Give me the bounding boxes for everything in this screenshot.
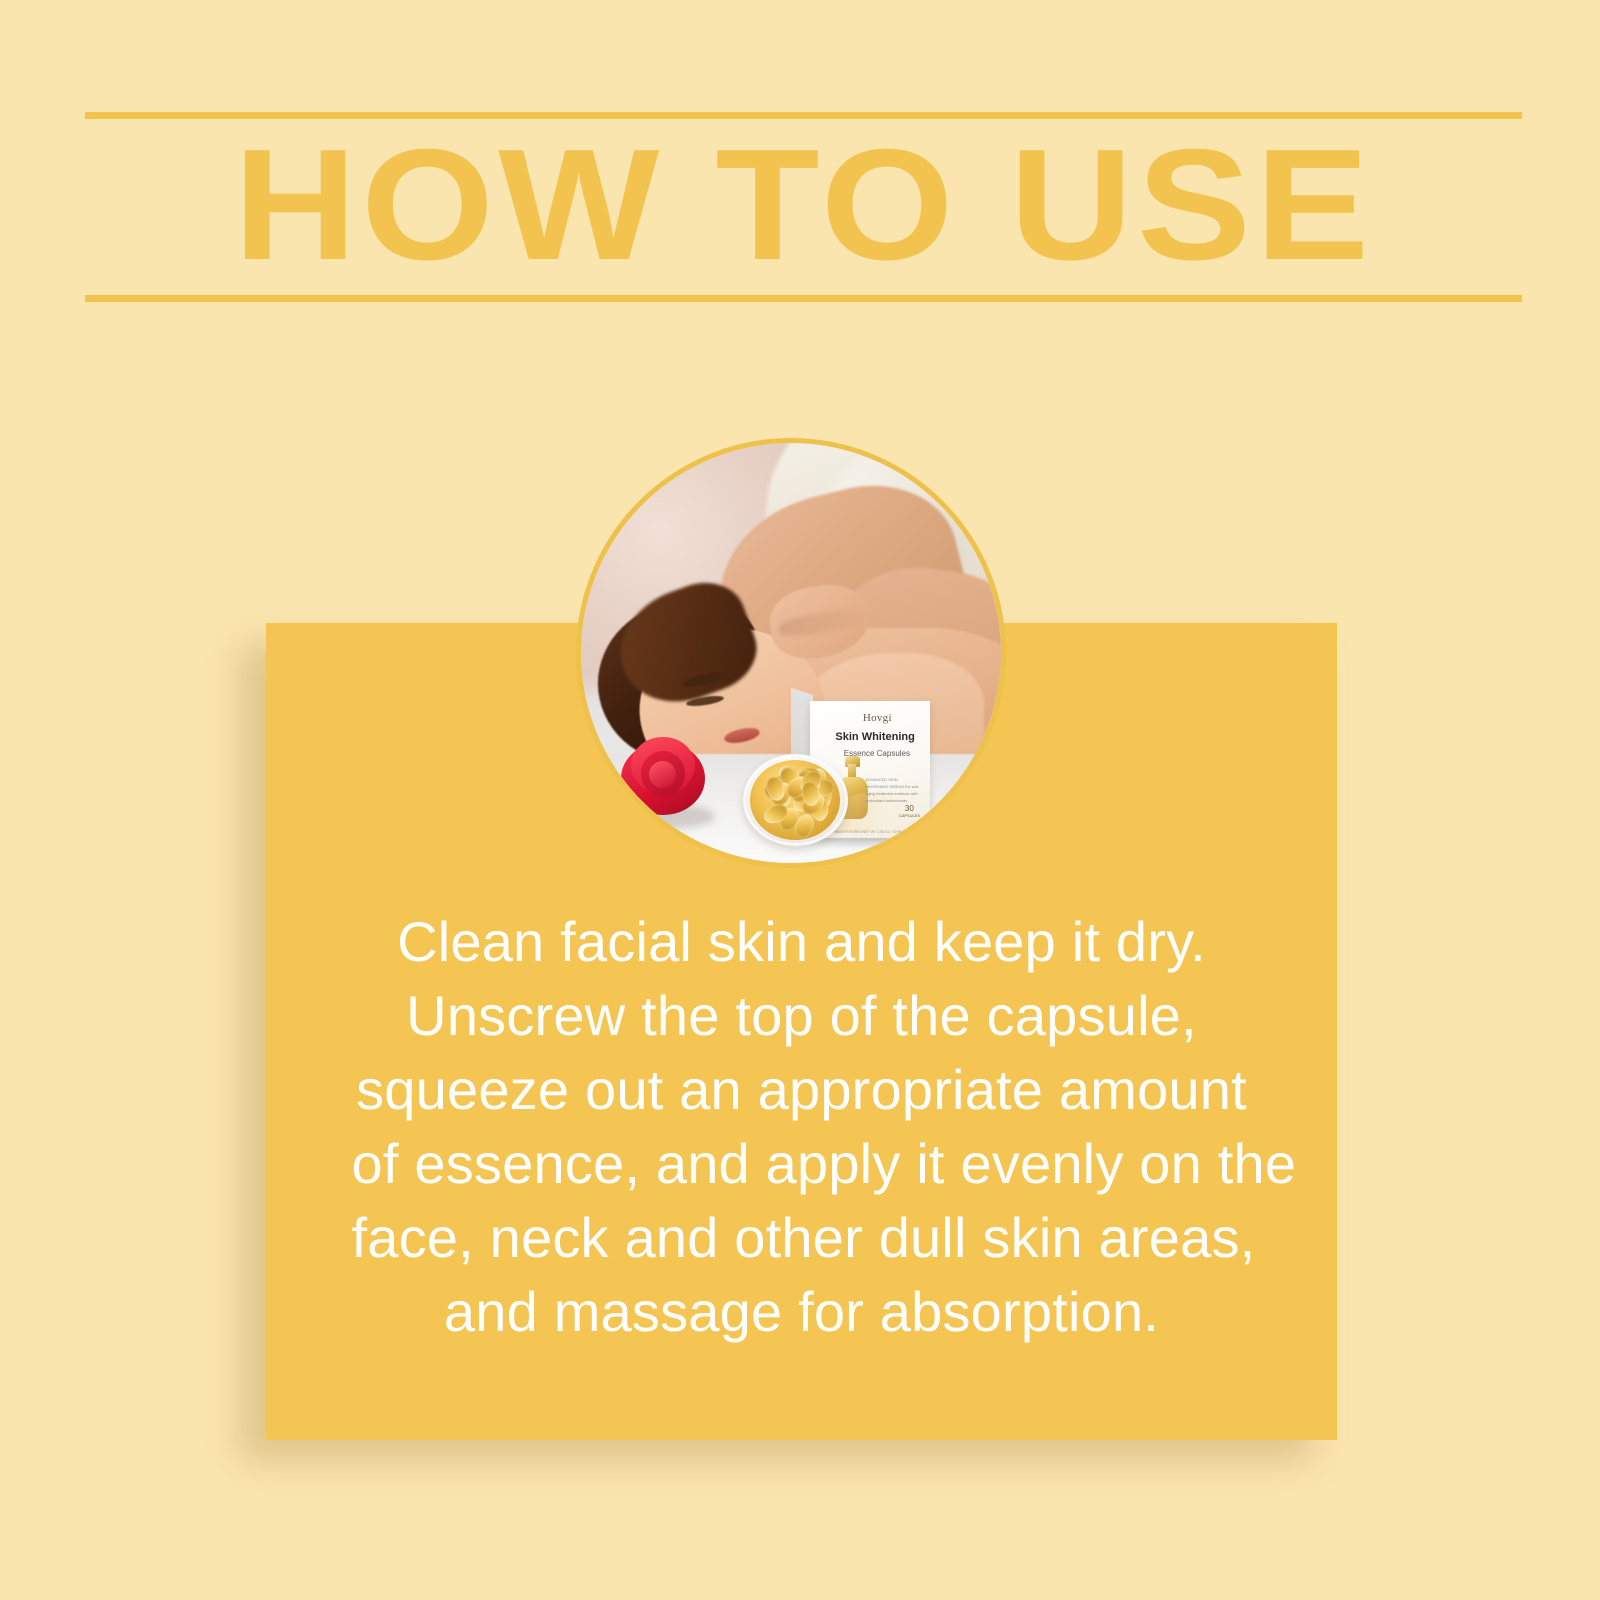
instruction-line: and massage for absorption.	[352, 1275, 1252, 1349]
page-title: HOW TO USE	[28, 116, 1580, 294]
capsule-jar-rim	[743, 754, 848, 846]
instruction-line: Unscrew the top of the capsule,	[352, 979, 1252, 1053]
product-count-value: 30	[905, 804, 914, 813]
title-rule-bottom	[85, 295, 1522, 302]
instruction-line: of essence, and apply it evenly on the	[352, 1127, 1252, 1201]
product-count: 30 CAPSULES	[899, 805, 920, 818]
product-brand: Hovgi	[863, 712, 892, 724]
product-photo: Hovgi Skin Whitening Essence Capsules AD…	[581, 443, 1001, 863]
product-fine-print: ADVANCED SKIN WHITENING SERUM For anti-a…	[865, 777, 920, 804]
title-block: HOW TO USE	[85, 112, 1522, 302]
product-count-unit: CAPSULES	[899, 814, 920, 818]
instruction-line: face, neck and other dull skin areas,	[352, 1201, 1252, 1275]
capsule-jar	[743, 754, 848, 846]
instruction-line: Clean facial skin and keep it dry.	[352, 905, 1252, 979]
product-name: Skin Whitening	[835, 731, 914, 743]
instruction-line: squeeze out an appropriate amount	[352, 1053, 1252, 1127]
product-bottom-line: MADE IN KOREA NET WT 1.06 OZ / 30 ML	[834, 830, 902, 834]
product-subtitle: Essence Capsules	[844, 749, 910, 758]
instructions-text: Clean facial skin and keep it dry. Unscr…	[352, 905, 1252, 1348]
product-photo-circle: Hovgi Skin Whitening Essence Capsules AD…	[576, 438, 1006, 868]
red-rose	[621, 737, 705, 817]
page-root: HOW TO USE Clean facial skin and keep it…	[0, 0, 1600, 1600]
